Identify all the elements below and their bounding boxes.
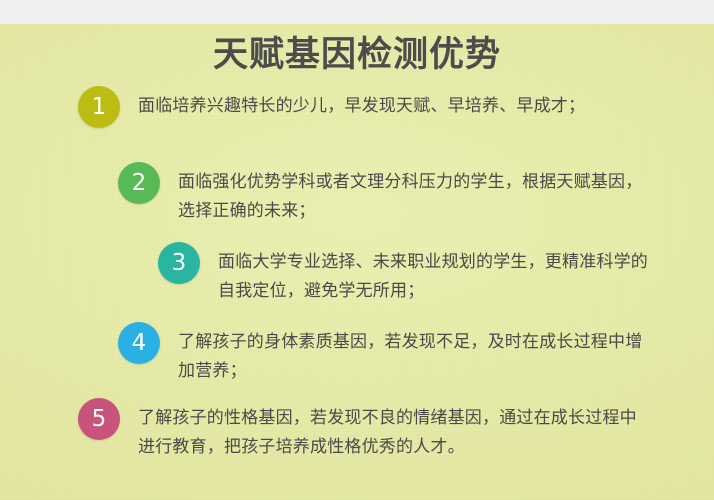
item-number-badge: 5 <box>78 398 120 440</box>
poster-root: 天赋基因检测优势 1 面临培养兴趣特长的少儿，早发现天赋、早培养、早成才； 2 … <box>0 0 714 500</box>
item-text: 面临大学专业选择、未来职业规划的学生，更精准科学的 自我定位，避免学无所用； <box>218 242 648 305</box>
top-strip <box>0 0 714 24</box>
item-text: 了解孩子的性格基因，若发现不良的情绪基因，通过在成长过程中 进行教育，把孩子培养… <box>138 398 637 461</box>
list-item: 4 了解孩子的身体素质基因，若发现不足，及时在成长过程中增 加营养； <box>118 322 642 385</box>
item-text: 面临强化优势学科或者文理分科压力的学生，根据天赋基因， 选择正确的未来； <box>178 162 642 225</box>
page-title: 天赋基因检测优势 <box>0 26 714 77</box>
item-number-badge: 4 <box>118 322 160 364</box>
item-text: 面临培养兴趣特长的少儿，早发现天赋、早培养、早成才； <box>138 86 585 120</box>
list-item: 3 面临大学专业选择、未来职业规划的学生，更精准科学的 自我定位，避免学无所用； <box>158 242 648 305</box>
list-item: 1 面临培养兴趣特长的少儿，早发现天赋、早培养、早成才； <box>78 86 585 128</box>
item-number-badge: 3 <box>158 242 200 284</box>
list-item: 2 面临强化优势学科或者文理分科压力的学生，根据天赋基因， 选择正确的未来； <box>118 162 642 225</box>
list-item: 5 了解孩子的性格基因，若发现不良的情绪基因，通过在成长过程中 进行教育，把孩子… <box>78 398 637 461</box>
item-number-badge: 1 <box>78 86 120 128</box>
item-text: 了解孩子的身体素质基因，若发现不足，及时在成长过程中增 加营养； <box>178 322 642 385</box>
item-number-badge: 2 <box>118 162 160 204</box>
